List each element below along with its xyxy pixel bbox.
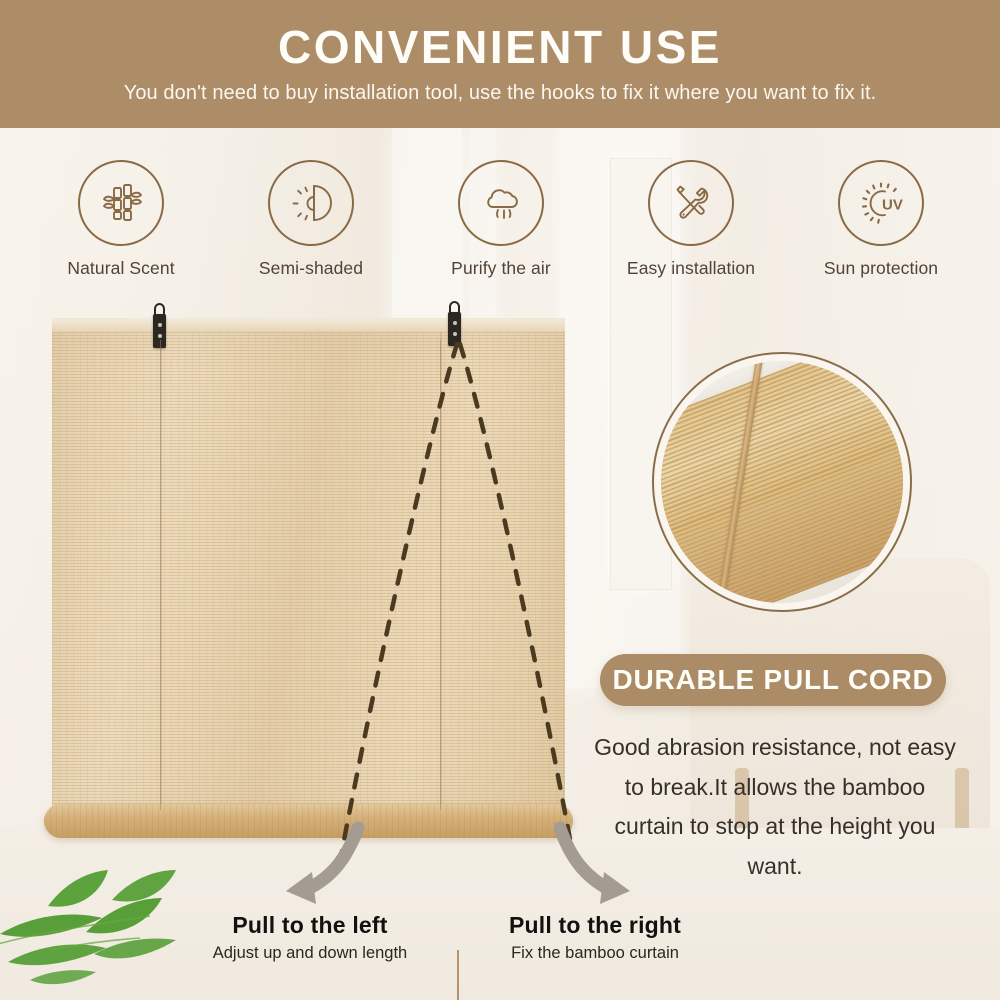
callout-title: Pull to the right xyxy=(435,912,755,939)
infographic-canvas: CONVENIENT USE You don't need to buy ins… xyxy=(0,0,1000,1000)
pull-cord-line xyxy=(440,340,441,810)
feature-label: Sun protection xyxy=(786,258,976,279)
svg-text:UV: UV xyxy=(882,197,903,214)
bamboo-roller-blind xyxy=(52,318,565,838)
feature-purify-air: Purify the air xyxy=(406,160,596,279)
pull-cord-description: Good abrasion resistance, not easy to br… xyxy=(590,728,960,886)
feature-icon-row: Natural Scent Semi-shaded xyxy=(0,160,1000,295)
callout-subtitle: Fix the bamboo curtain xyxy=(435,944,755,963)
blind-head-rail xyxy=(52,318,565,333)
closeup-photo xyxy=(661,361,903,603)
badge-label: DURABLE PULL CORD xyxy=(612,664,933,696)
feature-easy-installation: Easy installation xyxy=(596,160,786,279)
mounting-hook-right xyxy=(448,312,461,346)
header-subtitle: You don't need to buy installation tool,… xyxy=(124,82,877,104)
pull-cord-line xyxy=(160,340,161,810)
header-banner: CONVENIENT USE You don't need to buy ins… xyxy=(0,0,1000,128)
feature-label: Semi-shaded xyxy=(216,258,406,279)
feature-sun-protection: UV Sun protection xyxy=(786,160,976,279)
bamboo-leaves-decoration xyxy=(0,858,240,988)
durable-pull-cord-badge: DURABLE PULL CORD xyxy=(600,654,946,706)
blind-fabric xyxy=(52,332,565,814)
feature-label: Easy installation xyxy=(596,258,786,279)
uv-sun-icon: UV xyxy=(838,160,924,246)
feature-label: Natural Scent xyxy=(26,258,216,279)
feature-label: Purify the air xyxy=(406,258,596,279)
pull-cord-closeup-inset xyxy=(652,352,912,612)
callout-pull-right: Pull to the right Fix the bamboo curtain xyxy=(435,912,755,963)
bamboo-icon xyxy=(78,160,164,246)
feature-natural-scent: Natural Scent xyxy=(26,160,216,279)
page-title: CONVENIENT USE xyxy=(278,24,722,70)
feature-semi-shaded: Semi-shaded xyxy=(216,160,406,279)
blind-bottom-rail xyxy=(44,804,573,838)
cloud-rain-icon xyxy=(458,160,544,246)
wrench-screwdriver-icon xyxy=(648,160,734,246)
half-sun-icon xyxy=(268,160,354,246)
